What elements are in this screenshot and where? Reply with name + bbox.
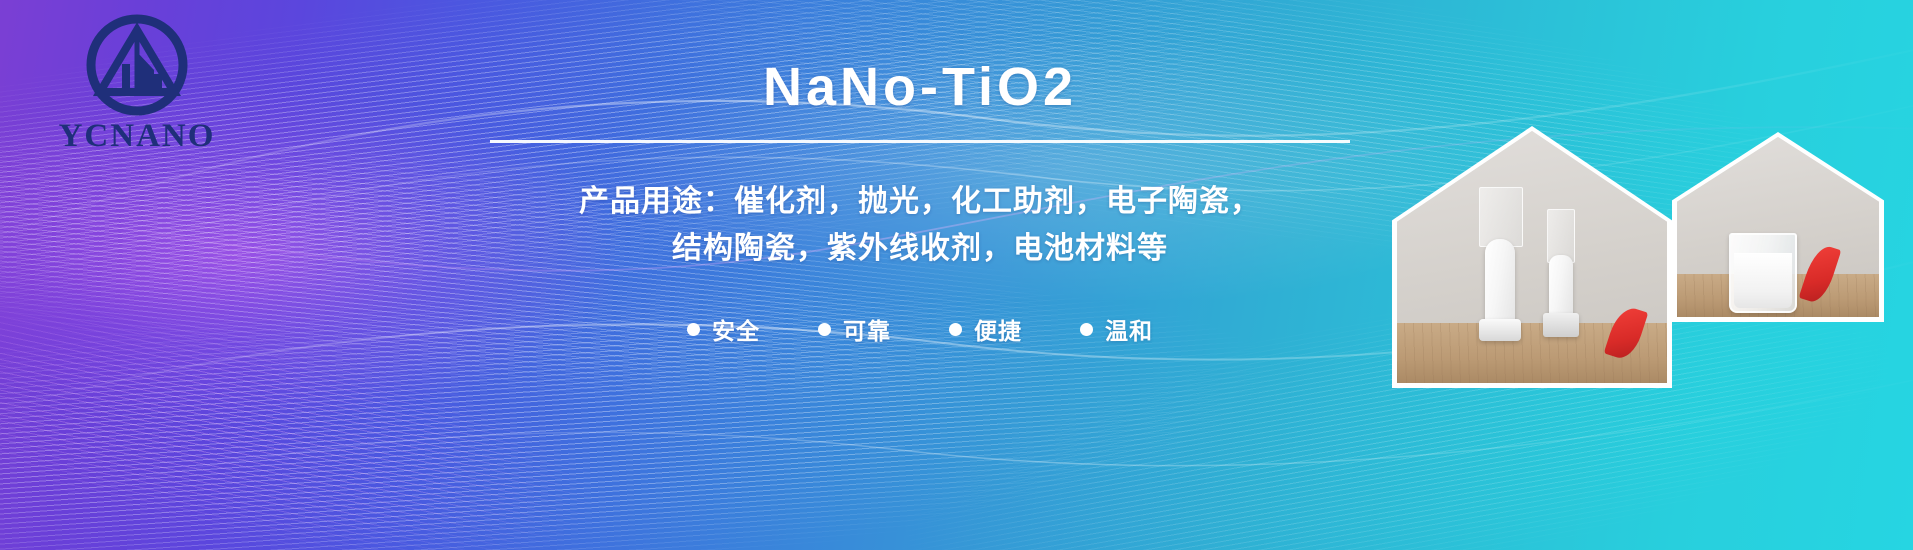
feature-item-mild: 温和 [1080, 312, 1153, 346]
product-usage-text: 产品用途：催化剂，抛光，化工助剂，电子陶瓷， 结构陶瓷，紫外线收剂，电池材料等 [490, 179, 1350, 272]
brand-logo[interactable]: YCNANO [42, 12, 232, 153]
product-photo-vases [1392, 126, 1672, 388]
product-photo-beaker [1672, 132, 1884, 322]
feature-item-convenient: 便捷 [949, 312, 1022, 346]
feature-label: 可靠 [843, 312, 891, 346]
feature-label: 便捷 [974, 312, 1022, 346]
usage-line-1: 产品用途：催化剂，抛光，化工助剂，电子陶瓷， [490, 179, 1350, 226]
feature-list: 安全 可靠 便捷 温和 [490, 312, 1350, 346]
usage-line-2: 结构陶瓷，紫外线收剂，电池材料等 [490, 226, 1350, 273]
bullet-dot-icon [1080, 323, 1093, 336]
bullet-dot-icon [949, 323, 962, 336]
beaker-icon [1729, 233, 1797, 313]
bullet-dot-icon [818, 323, 831, 336]
circle-triangle-emblem-icon [84, 12, 190, 118]
feature-label: 安全 [712, 312, 760, 346]
photo-frame-inner [1677, 137, 1879, 317]
vase-base-large [1479, 319, 1521, 341]
title-divider [490, 140, 1350, 143]
feature-item-reliable: 可靠 [818, 312, 891, 346]
vase-body-small [1549, 255, 1573, 321]
bullet-dot-icon [687, 323, 700, 336]
vase-base-small [1543, 313, 1579, 337]
vase-body-large [1485, 239, 1515, 331]
photo-frame-inner [1397, 131, 1667, 383]
feature-label: 温和 [1105, 312, 1153, 346]
vase-neck-large [1479, 187, 1523, 247]
brand-wordmark: YCNANO [42, 120, 232, 153]
beaker-liquid [1734, 253, 1792, 308]
product-banner: YCNANO NaNo-TiO2 产品用途：催化剂，抛光，化工助剂，电子陶瓷， … [0, 0, 1913, 550]
hero-content: NaNo-TiO2 产品用途：催化剂，抛光，化工助剂，电子陶瓷， 结构陶瓷，紫外… [490, 60, 1350, 346]
page-title: NaNo-TiO2 [490, 60, 1350, 118]
feature-item-safe: 安全 [687, 312, 760, 346]
